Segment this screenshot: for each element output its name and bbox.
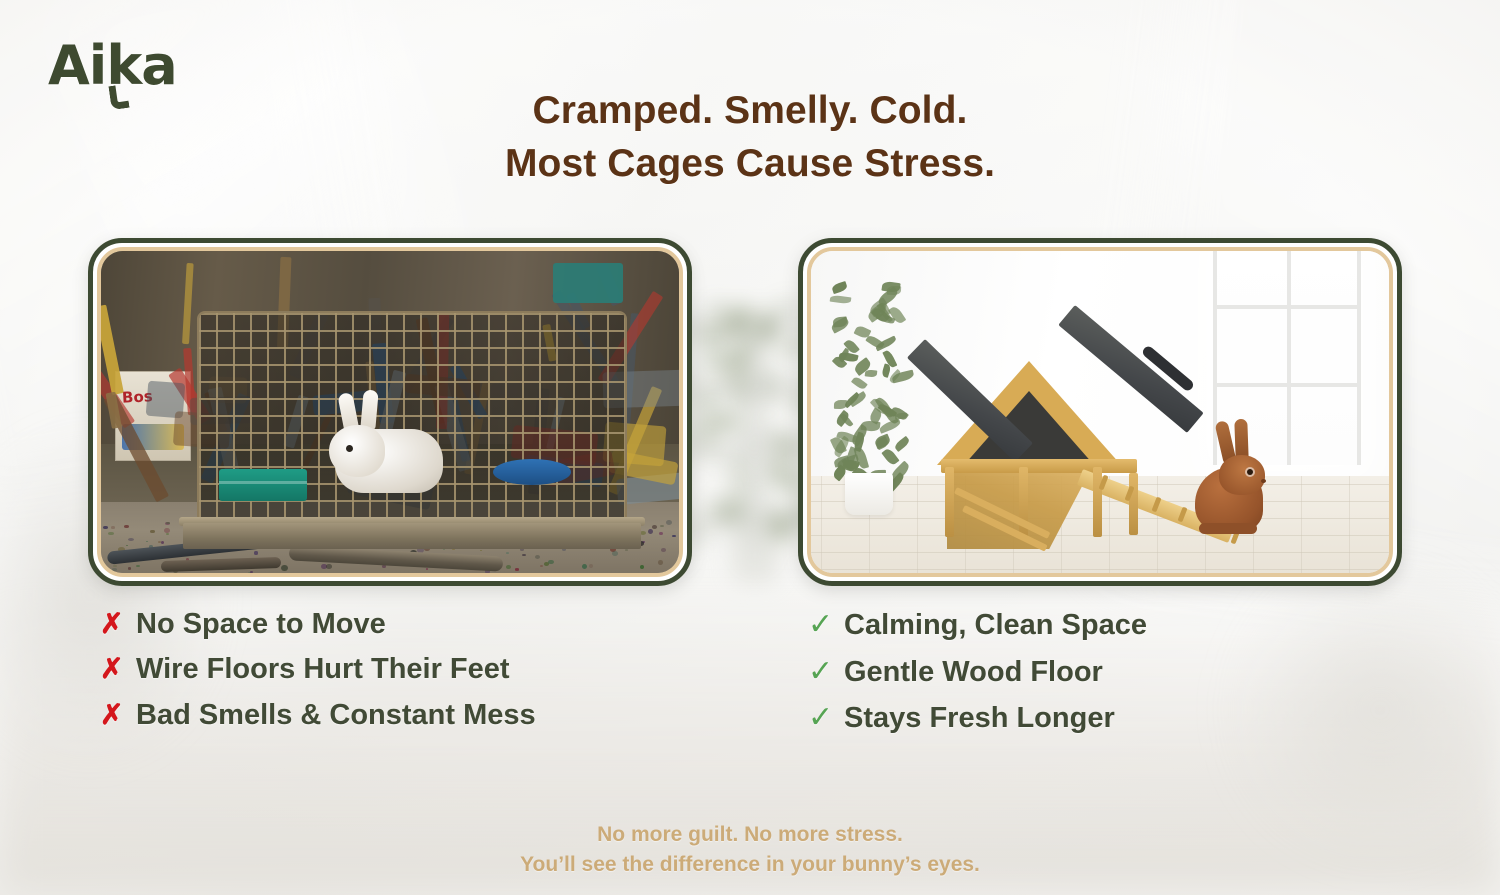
brown-rabbit-head [1219,455,1265,495]
check-icon: ✓ [808,655,830,689]
negative-benefits-list: ✗ No Space to Move ✗ Wire Floors Hurt Th… [100,608,536,744]
headline-line-1: Cramped. Smelly. Cold. [533,89,968,132]
plant-pot [845,473,893,515]
cage-feed-tray [219,469,307,501]
check-icon: ✓ [808,701,830,735]
list-item: ✓ Calming, Clean Space [808,608,1147,642]
brown-rabbit-feet [1199,523,1257,534]
list-item-label: Gentle Wood Floor [844,656,1103,688]
footer-line-2: You’ll see the difference in your bunny’… [0,850,1500,880]
list-item: ✗ Bad Smells & Constant Mess [100,699,536,731]
hutch-deck [941,459,1137,473]
cage-water-bowl [493,459,571,485]
card-positive [798,238,1402,586]
page-title: Cramped. Smelly. Cold. Most Cages Cause … [0,84,1500,190]
positive-benefits-list: ✓ Calming, Clean Space ✓ Gentle Wood Flo… [808,608,1147,748]
footer-tagline: No more guilt. No more stress. You’ll se… [0,820,1500,881]
brown-rabbit [1189,423,1271,535]
cross-icon: ✗ [100,653,122,684]
check-icon: ✓ [808,608,830,642]
brown-rabbit-eye [1247,469,1253,475]
white-rabbit [329,399,447,495]
list-item: ✓ Gentle Wood Floor [808,655,1147,689]
card-positive-frame [807,247,1393,577]
cross-icon: ✗ [100,608,122,639]
list-item-label: Stays Fresh Longer [844,702,1115,734]
headline-line-2: Most Cages Cause Stress. [0,137,1500,190]
potted-ficus-plant [829,279,915,505]
list-item: ✗ Wire Floors Hurt Their Feet [100,653,536,685]
footer-line-1: No more guilt. No more stress. [0,820,1500,850]
list-item-label: Calming, Clean Space [844,609,1147,641]
photo-caged-rabbit: Bos [101,251,679,573]
wooden-rabbit-hutch [923,291,1223,561]
cross-icon: ✗ [100,699,122,730]
list-item: ✓ Stays Fresh Longer [808,701,1147,735]
white-rabbit-head [329,425,385,477]
list-item-label: No Space to Move [136,608,386,640]
list-item: ✗ No Space to Move [100,608,536,640]
cage-base-tray [183,523,641,549]
card-negative: Bos [88,238,692,586]
white-rabbit-eye [346,445,353,452]
photo-wooden-hutch [811,251,1389,573]
list-item-label: Wire Floors Hurt Their Feet [136,653,510,685]
brown-rabbit-nose [1261,479,1266,483]
card-negative-frame: Bos [97,247,683,577]
list-item-label: Bad Smells & Constant Mess [136,699,536,731]
